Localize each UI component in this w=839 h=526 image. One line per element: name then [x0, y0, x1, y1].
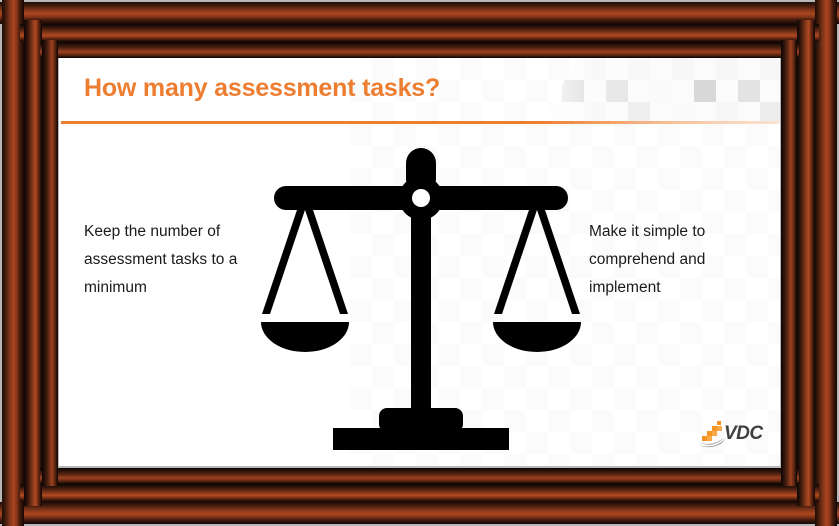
- checker-square: [760, 102, 780, 122]
- text-block-left: Keep the number of assessment tasks to a…: [84, 218, 284, 302]
- checker-square: [584, 80, 606, 102]
- frame-band-left-mid: [24, 20, 42, 506]
- checker-square: [650, 58, 672, 80]
- checker-square: [562, 80, 584, 102]
- frame-band-top-mid: [20, 24, 819, 42]
- checker-square: [562, 102, 584, 122]
- frame-band-left-outer: [2, 0, 24, 526]
- checker-square: [540, 102, 562, 122]
- checker-square: [540, 58, 562, 80]
- checker-square: [562, 58, 584, 80]
- checker-square: [672, 58, 694, 80]
- checker-square: [584, 58, 606, 80]
- checker-square: [650, 102, 672, 122]
- frame-band-right-outer: [815, 0, 837, 526]
- checker-square: [672, 80, 694, 102]
- decorative-checker-block: [540, 58, 780, 122]
- vdc-wordmark: VDC: [724, 423, 763, 445]
- checker-square: [628, 80, 650, 102]
- framed-slide-image: How many assessment tasks? Keep the numb…: [0, 0, 839, 526]
- checker-square: [694, 58, 716, 80]
- checker-square: [738, 102, 760, 122]
- checker-square: [694, 102, 716, 122]
- slide-canvas: How many assessment tasks? Keep the numb…: [59, 58, 780, 466]
- checker-square: [672, 102, 694, 122]
- frame-band-left-inner: [42, 40, 58, 486]
- checker-square: [606, 80, 628, 102]
- text-block-right: Make it simple to comprehend and impleme…: [589, 218, 774, 302]
- checker-square: [628, 58, 650, 80]
- frame-band-bottom-inner: [40, 468, 799, 484]
- checker-square: [650, 80, 672, 102]
- checker-square: [540, 80, 562, 102]
- checker-square: [716, 102, 738, 122]
- checker-square: [716, 80, 738, 102]
- checker-square: [694, 80, 716, 102]
- frame-band-bottom-mid: [20, 484, 819, 502]
- checker-square: [584, 102, 606, 122]
- checker-square: [760, 58, 780, 80]
- title-underline-rule: [61, 121, 779, 124]
- frame-band-right-mid: [797, 20, 815, 506]
- checker-square: [716, 58, 738, 80]
- checker-square: [738, 58, 760, 80]
- frame-band-bottom-outer: [0, 502, 839, 524]
- frame-band-top-inner: [40, 42, 799, 58]
- frame-band-top-outer: [0, 2, 839, 24]
- vdc-logo: VDC: [697, 419, 769, 449]
- balance-scales-icon: [261, 146, 581, 451]
- checker-square: [760, 80, 780, 102]
- checker-square: [628, 102, 650, 122]
- vdc-mark-icon: [697, 419, 727, 449]
- checker-square: [606, 58, 628, 80]
- checker-square: [606, 102, 628, 122]
- checker-square: [738, 80, 760, 102]
- slide-title: How many assessment tasks?: [84, 74, 440, 103]
- frame-band-right-inner: [781, 40, 797, 486]
